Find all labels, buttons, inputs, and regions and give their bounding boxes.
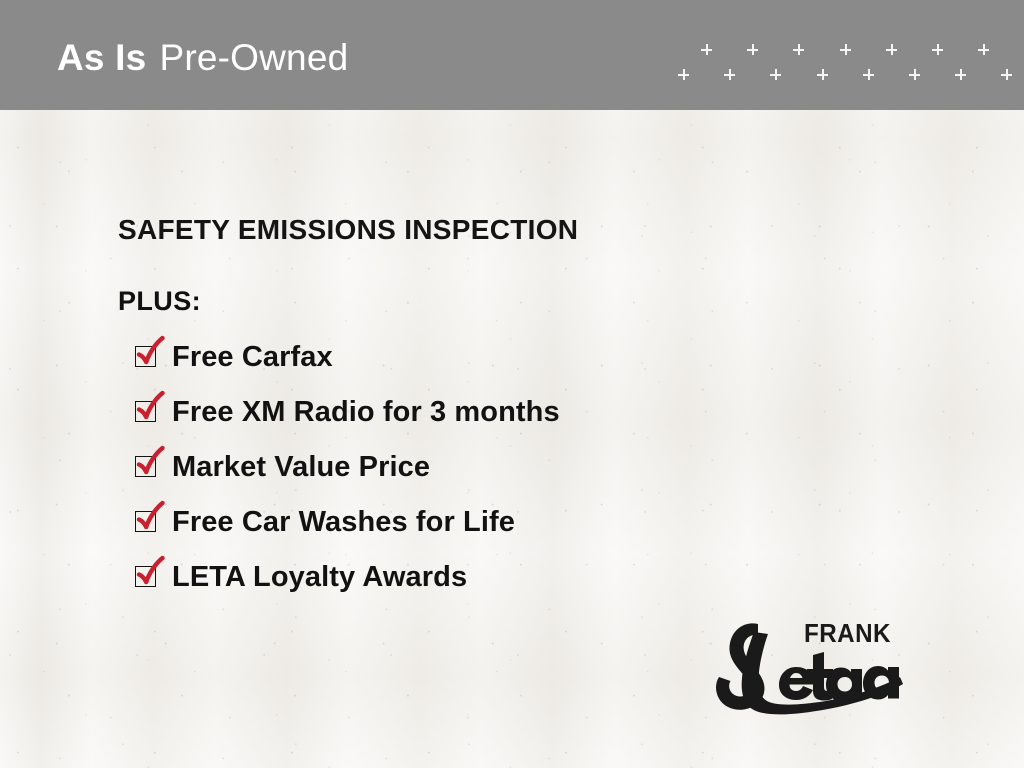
checklist-item-label: LETA Loyalty Awards xyxy=(172,561,467,593)
checklist-item-label: Market Value Price xyxy=(172,451,430,483)
plus-icon xyxy=(1001,69,1012,80)
plus-icon xyxy=(886,44,897,55)
checklist-item-label: Free Car Washes for Life xyxy=(172,506,515,538)
slide-title-strong: As Is xyxy=(57,37,146,78)
checklist-item[interactable]: Free XM Radio for 3 months xyxy=(135,396,835,451)
plus-icon xyxy=(770,69,781,80)
plus-icon xyxy=(793,44,804,55)
checked-checkbox-icon[interactable] xyxy=(135,456,157,478)
plus-icon xyxy=(747,44,758,55)
plus-icon xyxy=(932,44,943,55)
plus-icon xyxy=(909,69,920,80)
checked-checkbox-icon[interactable] xyxy=(135,566,157,588)
checklist-item[interactable]: Free Car Washes for Life xyxy=(135,506,835,561)
checked-checkbox-icon[interactable] xyxy=(135,511,157,533)
header-banner: As IsPre-Owned xyxy=(0,0,1024,110)
plus-icon xyxy=(678,69,689,80)
checklist-item[interactable]: Market Value Price xyxy=(135,451,835,506)
checked-checkbox-icon[interactable] xyxy=(135,346,157,368)
plus-decoration-group xyxy=(660,36,1024,96)
plus-section-label: PLUS: xyxy=(118,286,201,317)
logo-frank-text: FRANK xyxy=(804,618,891,649)
slide-title-light: Pre-Owned xyxy=(159,37,348,78)
plus-icon xyxy=(978,44,989,55)
benefits-checklist: Free Carfax Free XM Radio for 3 months M… xyxy=(135,341,835,616)
checklist-item[interactable]: LETA Loyalty Awards xyxy=(135,561,835,616)
slide-title: As IsPre-Owned xyxy=(57,36,348,80)
slide-canvas: As IsPre-Owned SAFETY EMISSIONS INSPECTI… xyxy=(0,0,1024,768)
checklist-item-label: Free XM Radio for 3 months xyxy=(172,396,560,428)
plus-icon xyxy=(955,69,966,80)
frank-leta-logo: FRANK xyxy=(700,612,915,720)
section-heading: SAFETY EMISSIONS INSPECTION xyxy=(118,214,578,246)
plus-icon xyxy=(817,69,828,80)
checklist-item-label: Free Carfax xyxy=(172,341,333,373)
checklist-item[interactable]: Free Carfax xyxy=(135,341,835,396)
plus-icon xyxy=(701,44,712,55)
plus-icon xyxy=(724,69,735,80)
plus-icon xyxy=(863,69,874,80)
checked-checkbox-icon[interactable] xyxy=(135,401,157,423)
plus-icon xyxy=(840,44,851,55)
